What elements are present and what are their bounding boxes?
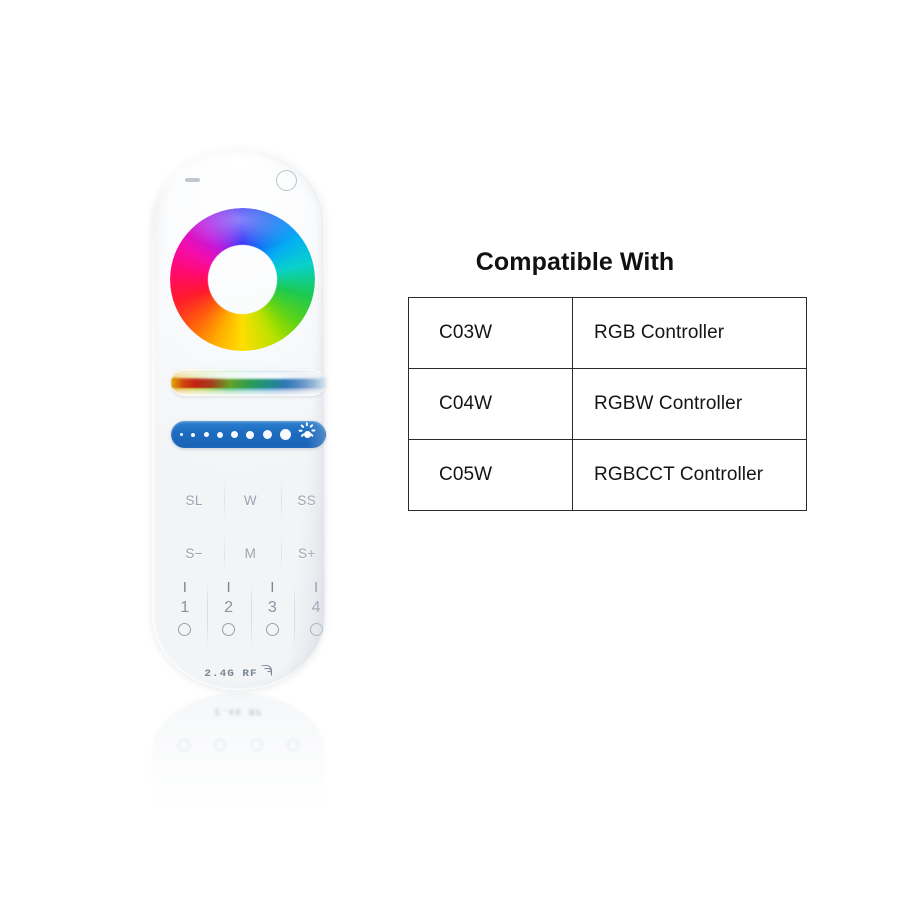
sun-ray [310, 433, 314, 437]
zone-on-label[interactable]: I [270, 583, 274, 593]
description-cell: RGBCCT Controller [573, 440, 807, 511]
zone-key-2[interactable]: I 2 [207, 580, 251, 636]
remote-body: SL W SS S− M S+ I 1 [152, 148, 325, 690]
function-key-w[interactable]: W [222, 474, 278, 527]
zone-number-label: 1 [180, 600, 189, 616]
zone-on-label[interactable]: I [314, 583, 318, 593]
zone-off-circle-icon[interactable] [178, 623, 191, 636]
rf-signal-icon [260, 665, 273, 677]
table-row: C04W RGBW Controller [409, 369, 807, 440]
function-key-speed-down[interactable]: S− [166, 527, 222, 580]
reflection-dot [287, 739, 299, 751]
page-title: Compatible With [408, 248, 808, 277]
model-cell: C05W [409, 440, 573, 511]
function-key-label: W [244, 493, 257, 508]
function-key-label: SS [297, 493, 316, 508]
rainbow-bar-icon [171, 378, 326, 388]
function-key-mode[interactable]: M [222, 527, 278, 580]
reflection-zone-dots [166, 739, 311, 751]
brand-mark: 2.4G RF [152, 668, 325, 680]
function-key-label: S− [185, 546, 203, 561]
zone-off-circle-icon[interactable] [310, 623, 323, 636]
sun-ray [306, 422, 308, 426]
compatibility-table: C03W RGB Controller C04W RGBW Controller… [408, 297, 807, 511]
zone-on-label[interactable]: I [183, 583, 187, 593]
function-key-label: M [245, 546, 257, 561]
zone-key-grid: I 1 I 2 I 3 I 4 [163, 580, 338, 636]
slider-sheen [175, 372, 322, 379]
table-row: C05W RGBCCT Controller [409, 440, 807, 511]
zone-number-label: 2 [224, 600, 233, 616]
function-key-speed-up[interactable]: S+ [279, 527, 335, 580]
reflection-brand-text: 2.4G RF [152, 705, 325, 716]
compatibility-panel: Compatible With C03W RGB Controller C04W… [408, 248, 808, 511]
sun-ray [311, 429, 315, 431]
zone-key-4[interactable]: I 4 [294, 580, 338, 636]
zone-off-circle-icon[interactable] [222, 623, 235, 636]
model-cell: C04W [409, 369, 573, 440]
product-reflection: 2.4G RF [152, 693, 325, 863]
brightness-level-dot[interactable] [263, 430, 272, 439]
sun-ray [306, 435, 308, 439]
brightness-level-dot[interactable] [191, 433, 195, 437]
brightness-level-dot[interactable] [217, 432, 223, 438]
sun-ray [310, 424, 314, 428]
zone-number-label: 3 [268, 600, 277, 616]
zone-off-circle-icon[interactable] [266, 623, 279, 636]
function-key-sl[interactable]: SL [166, 474, 222, 527]
description-cell: RGB Controller [573, 298, 807, 369]
function-key-label: S+ [298, 546, 316, 561]
brightness-level-dot[interactable] [280, 429, 291, 440]
function-key-ss[interactable]: SS [279, 474, 335, 527]
brightness-level-dot[interactable] [231, 431, 238, 438]
color-wheel-touch-ring[interactable] [170, 208, 315, 351]
brightness-level-dot[interactable] [204, 432, 209, 437]
model-cell: C03W [409, 298, 573, 369]
sun-ray [299, 429, 303, 431]
power-ring-icon[interactable] [276, 170, 297, 191]
reflection-dot [178, 739, 190, 751]
brightness-level-dot[interactable] [180, 433, 183, 436]
zone-number-label: 4 [312, 600, 321, 616]
zone-key-1[interactable]: I 1 [163, 580, 207, 636]
function-key-label: SL [186, 493, 203, 508]
brightness-slider[interactable] [171, 421, 326, 448]
brand-label: 2.4G RF [204, 668, 257, 679]
minus-dash-icon[interactable] [185, 178, 200, 182]
zone-key-3[interactable]: I 3 [251, 580, 295, 636]
function-key-grid: SL W SS S− M S+ [166, 474, 335, 580]
zone-on-label[interactable]: I [227, 583, 231, 593]
table-row: C03W RGB Controller [409, 298, 807, 369]
sun-icon [299, 427, 315, 443]
reflection-dot [251, 739, 263, 751]
sun-ray [301, 424, 305, 428]
description-cell: RGBW Controller [573, 369, 807, 440]
reflection-dot [214, 739, 226, 751]
saturation-slider[interactable] [171, 369, 326, 396]
brightness-level-dot[interactable] [246, 431, 254, 439]
product-image-remote: 2.4G RF 091 SL W [140, 135, 340, 775]
